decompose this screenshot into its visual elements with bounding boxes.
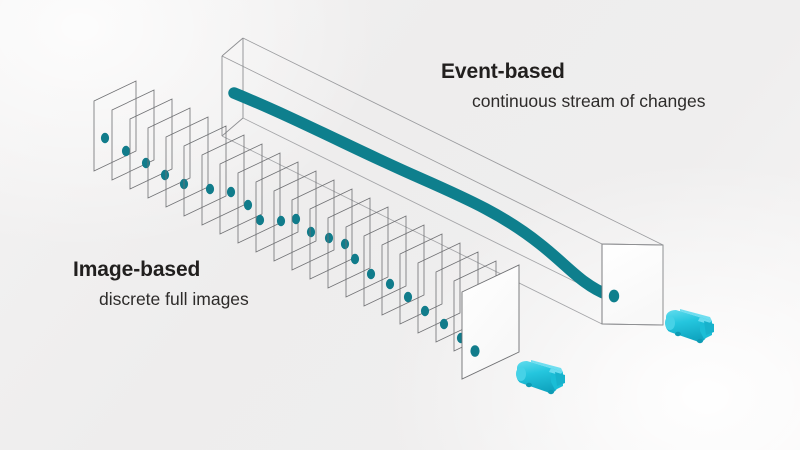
box-edge-left-top-connector: [222, 38, 243, 56]
image-based-subtitle: discrete full images: [99, 289, 249, 309]
event-based-label-block: Event-based continuous stream of changes: [441, 60, 705, 111]
event-endpoint-dot: [609, 290, 619, 303]
image-based-title: Image-based: [73, 258, 249, 282]
image-based-label-block: Image-based discrete full images: [73, 258, 249, 309]
car-event-based: [665, 309, 714, 343]
event-based-title: Event-based: [441, 60, 705, 84]
event-stream-curve: [234, 93, 608, 295]
frame-item-final: [462, 265, 519, 379]
box-end-face: [602, 244, 663, 325]
figure-canvas: Event-based continuous stream of changes…: [0, 0, 800, 450]
car-image-based: [516, 360, 565, 394]
box-end-face-group: [602, 244, 663, 325]
event-based-subtitle: continuous stream of changes: [472, 91, 705, 111]
box-edge-left-bottom-connector: [222, 118, 243, 136]
box-edge-near-bottom: [222, 136, 602, 324]
